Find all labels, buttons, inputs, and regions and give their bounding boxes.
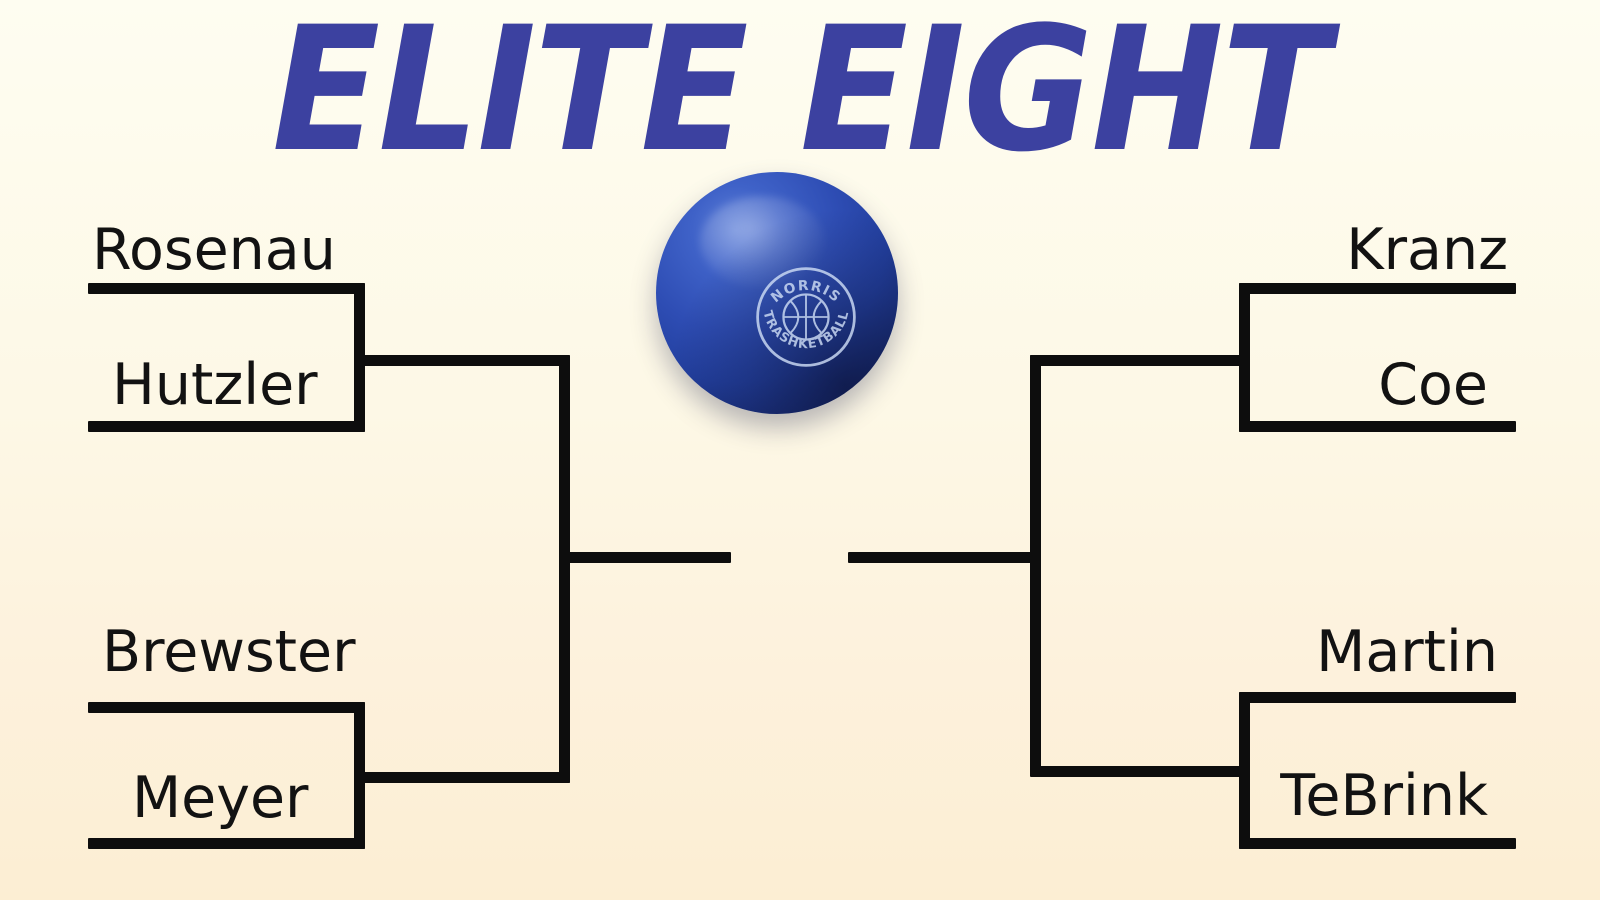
bracket-stage: ELITE EIGHT Rosenau Hutzler Brewster Mey… bbox=[0, 0, 1600, 900]
bracket-line-right-top-upper bbox=[1239, 283, 1516, 294]
trashketball-ball: NORRIS TRASHKETBALL bbox=[656, 172, 898, 414]
bracket-connector-right-bottom-out bbox=[1030, 766, 1246, 777]
seed-label-rosenau[interactable]: Rosenau bbox=[92, 222, 336, 279]
bracket-line-right-bottom-upper bbox=[1239, 692, 1516, 703]
bracket-final-stub-right bbox=[848, 552, 1038, 563]
seed-label-coe[interactable]: Coe bbox=[1378, 357, 1488, 414]
seed-label-tebrink[interactable]: TeBrink bbox=[1280, 768, 1488, 825]
bracket-connector-right-top-out bbox=[1030, 355, 1246, 366]
bracket-line-left-top-lower bbox=[88, 421, 365, 432]
ball-sphere bbox=[656, 172, 898, 414]
seed-label-martin[interactable]: Martin bbox=[1316, 624, 1498, 681]
seed-label-brewster[interactable]: Brewster bbox=[102, 624, 356, 681]
seed-label-meyer[interactable]: Meyer bbox=[132, 770, 308, 827]
bracket-line-left-bottom-upper bbox=[88, 702, 365, 713]
bracket-line-left-bottom-lower bbox=[88, 838, 365, 849]
bracket-line-right-bottom-lower bbox=[1239, 838, 1516, 849]
bracket-connector-left-bottom-out bbox=[354, 772, 570, 783]
bracket-final-stub-left bbox=[559, 552, 731, 563]
seed-label-hutzler[interactable]: Hutzler bbox=[112, 357, 318, 414]
bracket-spine-left bbox=[559, 355, 570, 783]
bracket-connector-left-top-out bbox=[354, 355, 570, 366]
seed-label-kranz[interactable]: Kranz bbox=[1346, 222, 1508, 279]
bracket-line-right-top-lower bbox=[1239, 421, 1516, 432]
bracket-spine-right bbox=[1030, 355, 1041, 773]
page-title: ELITE EIGHT bbox=[64, 4, 1536, 176]
bracket-line-left-top-upper bbox=[88, 283, 365, 294]
